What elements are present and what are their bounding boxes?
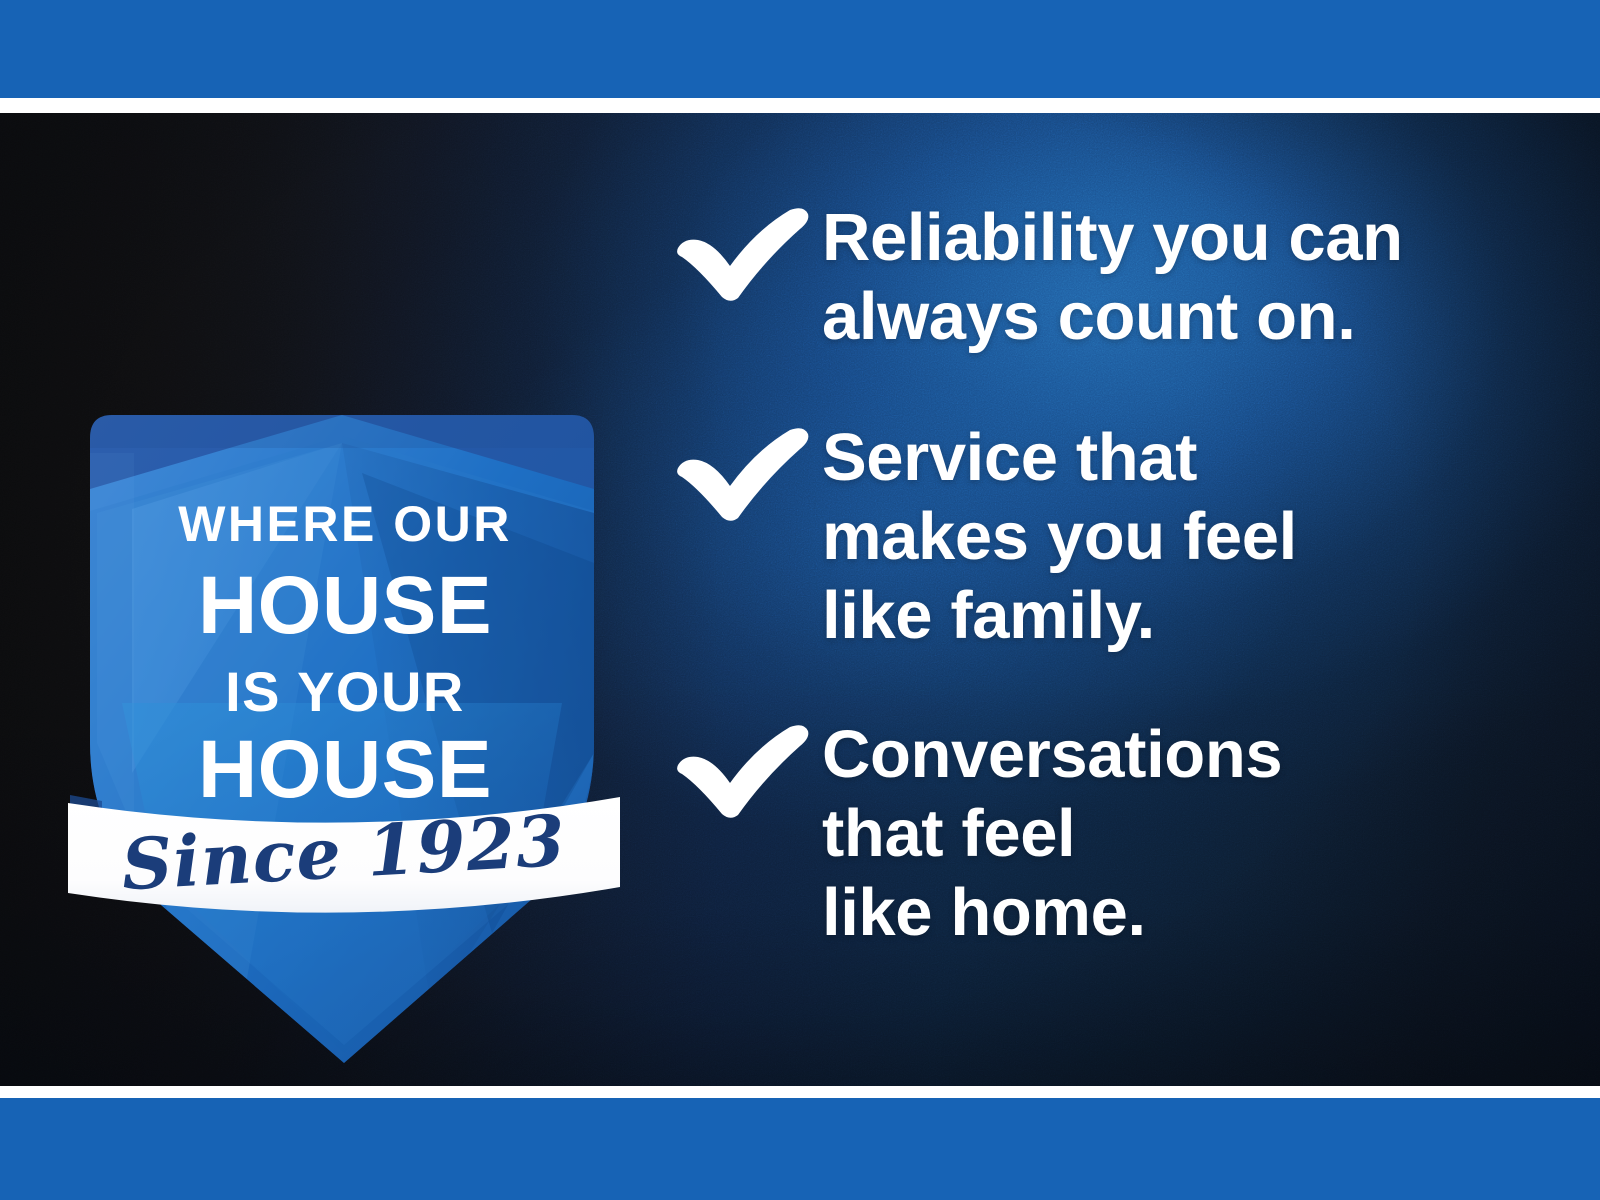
logo-line-1: WHERE OUR (178, 496, 512, 552)
checkmark-icon (672, 198, 822, 300)
logo-line-4: HOUSE (198, 724, 492, 815)
benefits-list: Reliability you can always count on. Ser… (672, 198, 1532, 952)
checkmark-icon (672, 715, 822, 817)
bottom-brand-bar (0, 1098, 1600, 1200)
benefit-text: Reliability you can always count on. (822, 198, 1532, 356)
benefit-item: Conversations that feel like home. (672, 715, 1532, 952)
top-separator-stripe (0, 98, 1600, 113)
top-brand-bar (0, 0, 1600, 98)
company-logo: WHERE OUR HOUSE IS YOUR HOUSE Since 1923 (62, 273, 622, 1073)
logo-line-2: HOUSE (198, 560, 492, 651)
promotional-graphic: WHERE OUR HOUSE IS YOUR HOUSE Since 1923 (0, 0, 1600, 1200)
benefit-item: Reliability you can always count on. (672, 198, 1532, 356)
benefit-text: Service that makes you feel like family. (822, 418, 1532, 655)
benefit-item: Service that makes you feel like family. (672, 418, 1532, 655)
checkmark-icon (672, 418, 822, 520)
bottom-separator-stripe (0, 1086, 1600, 1098)
main-stage: WHERE OUR HOUSE IS YOUR HOUSE Since 1923 (0, 113, 1600, 1086)
logo-line-3: IS YOUR (225, 660, 465, 723)
benefit-text: Conversations that feel like home. (822, 715, 1532, 952)
